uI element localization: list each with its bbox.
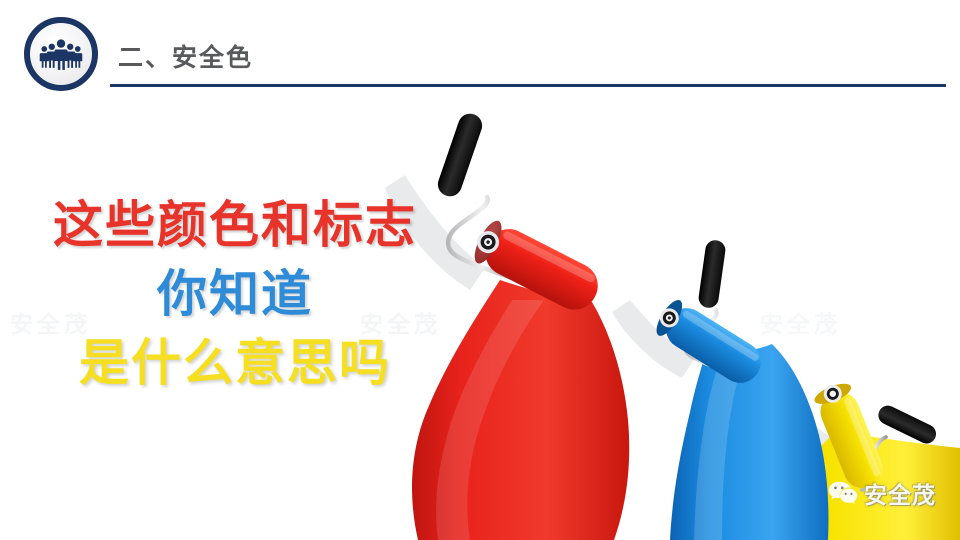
red-roller-drum — [477, 221, 605, 317]
blue-paint-roller — [650, 239, 768, 390]
wechat-account-name: 安全茂 — [864, 476, 936, 510]
logo-badge — [24, 17, 98, 91]
page-title: 二、安全色 — [118, 38, 253, 74]
blue-stroke-highlight — [694, 372, 740, 540]
yellow-roller-cap — [821, 382, 844, 405]
blue-roller-cap — [656, 305, 682, 331]
red-roller-cap — [473, 227, 503, 257]
yellow-stroke-highlight — [776, 464, 828, 540]
slide-header: 二、安全色 — [0, 0, 960, 100]
red-roller-handle — [435, 110, 486, 199]
wechat-icon — [828, 480, 858, 506]
yellow-roller-handle — [875, 402, 939, 446]
headline-line-1: 这些颜色和标志 — [0, 196, 470, 255]
blue-roller-rod — [685, 310, 740, 376]
people-group-icon — [30, 23, 92, 85]
blue-roller-drum — [658, 301, 768, 391]
blue-paint-stroke — [670, 344, 828, 540]
headline-line-3: 是什么意思吗 — [0, 334, 470, 393]
headline-block: 这些颜色和标志 你知道 是什么意思吗 — [0, 196, 470, 393]
blue-roller-handle — [697, 239, 726, 309]
wechat-badge: 安全茂 — [828, 476, 936, 510]
slide-canvas: 二、安全色 安全茂 安全茂 安全茂 这些颜色和标志 你知道 是什么意思吗 安全茂 — [0, 0, 960, 540]
header-divider — [110, 84, 946, 87]
watermark-right: 安全茂 — [760, 305, 841, 339]
headline-line-2: 你知道 — [0, 265, 470, 324]
